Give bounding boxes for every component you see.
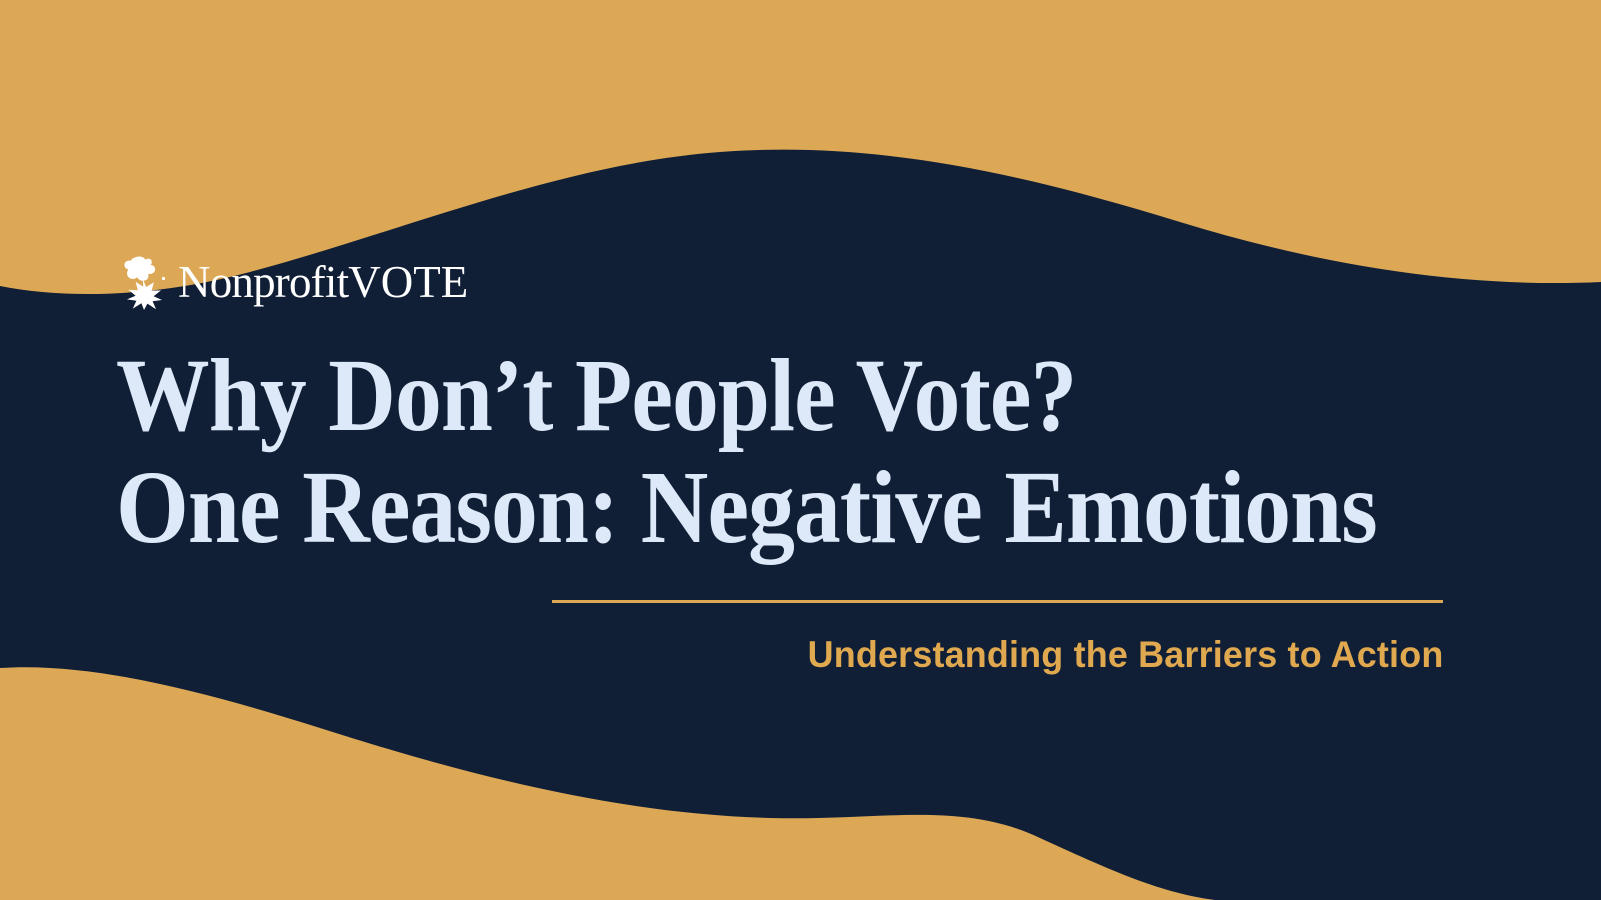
wordmark-vote: VOTE [348, 257, 468, 307]
subtitle-text: Understanding the Barriers to Action [807, 632, 1443, 678]
headline-line-1: Why Don’t People Vote? [116, 340, 1349, 452]
title-slide: NonprofitVOTE Why Don’t People Vote? One… [0, 0, 1601, 900]
brand-logo: NonprofitVOTE [118, 252, 468, 310]
subtitle: Understanding the Barriers to Action [0, 632, 1443, 678]
wordmark-nonprofit: Nonprofit [178, 257, 348, 307]
page-title: Why Don’t People Vote? One Reason: Negat… [116, 340, 1486, 564]
headline-line-2: One Reason: Negative Emotions [116, 452, 1349, 564]
gold-divider-rule [552, 600, 1443, 603]
brand-wordmark: NonprofitVOTE [178, 260, 468, 305]
slide-content: NonprofitVOTE Why Don’t People Vote? One… [0, 0, 1601, 900]
nonprofit-vote-star-burst-icon [118, 252, 172, 310]
